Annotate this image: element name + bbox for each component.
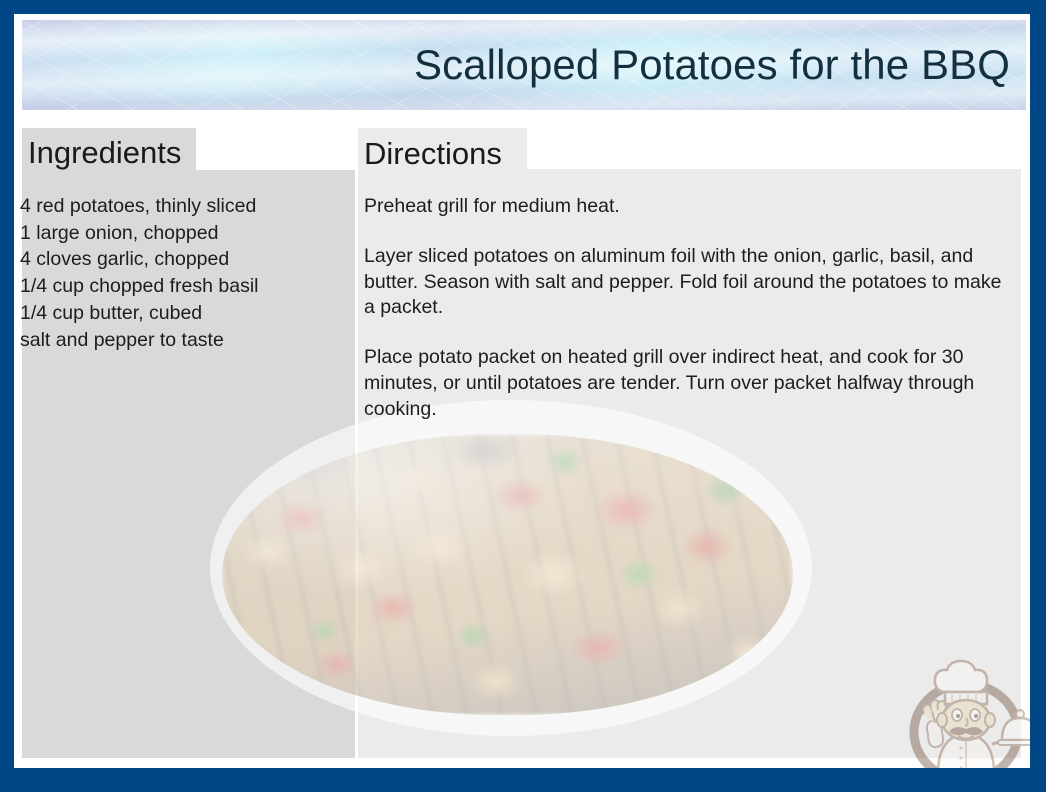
frame-border-bottom — [0, 768, 1046, 792]
direction-step: Place potato packet on heated grill over… — [364, 345, 1014, 422]
list-item: 1/4 cup chopped fresh basil — [20, 273, 350, 300]
ingredients-heading: Ingredients — [28, 137, 181, 168]
page-title: Scalloped Potatoes for the BBQ — [414, 42, 1010, 88]
frame-border-top — [0, 0, 1046, 14]
frame-border-left — [0, 0, 14, 792]
frame-border-right — [1030, 0, 1046, 792]
direction-step: Preheat grill for medium heat. — [364, 194, 1014, 220]
title-banner: Scalloped Potatoes for the BBQ — [22, 20, 1026, 110]
directions-heading: Directions — [364, 138, 502, 169]
list-item: 4 red potatoes, thinly sliced — [20, 193, 350, 220]
ingredients-list: 4 red potatoes, thinly sliced 1 large on… — [20, 193, 350, 353]
slide-canvas: Scalloped Potatoes for the BBQ Ingredien… — [14, 14, 1030, 768]
directions-steps: Preheat grill for medium heat. Layer sli… — [364, 194, 1014, 423]
recipe-slide: Scalloped Potatoes for the BBQ Ingredien… — [0, 0, 1046, 792]
chef-with-cloche-logo — [904, 648, 1030, 768]
list-item: salt and pepper to taste — [20, 327, 350, 354]
list-item: 1 large onion, chopped — [20, 220, 350, 247]
grilled-kebabs-photo — [222, 434, 793, 715]
direction-step: Layer sliced potatoes on aluminum foil w… — [364, 244, 1014, 321]
list-item: 1/4 cup butter, cubed — [20, 300, 350, 327]
photo-fade-overlay — [222, 434, 793, 715]
list-item: 4 cloves garlic, chopped — [20, 246, 350, 273]
